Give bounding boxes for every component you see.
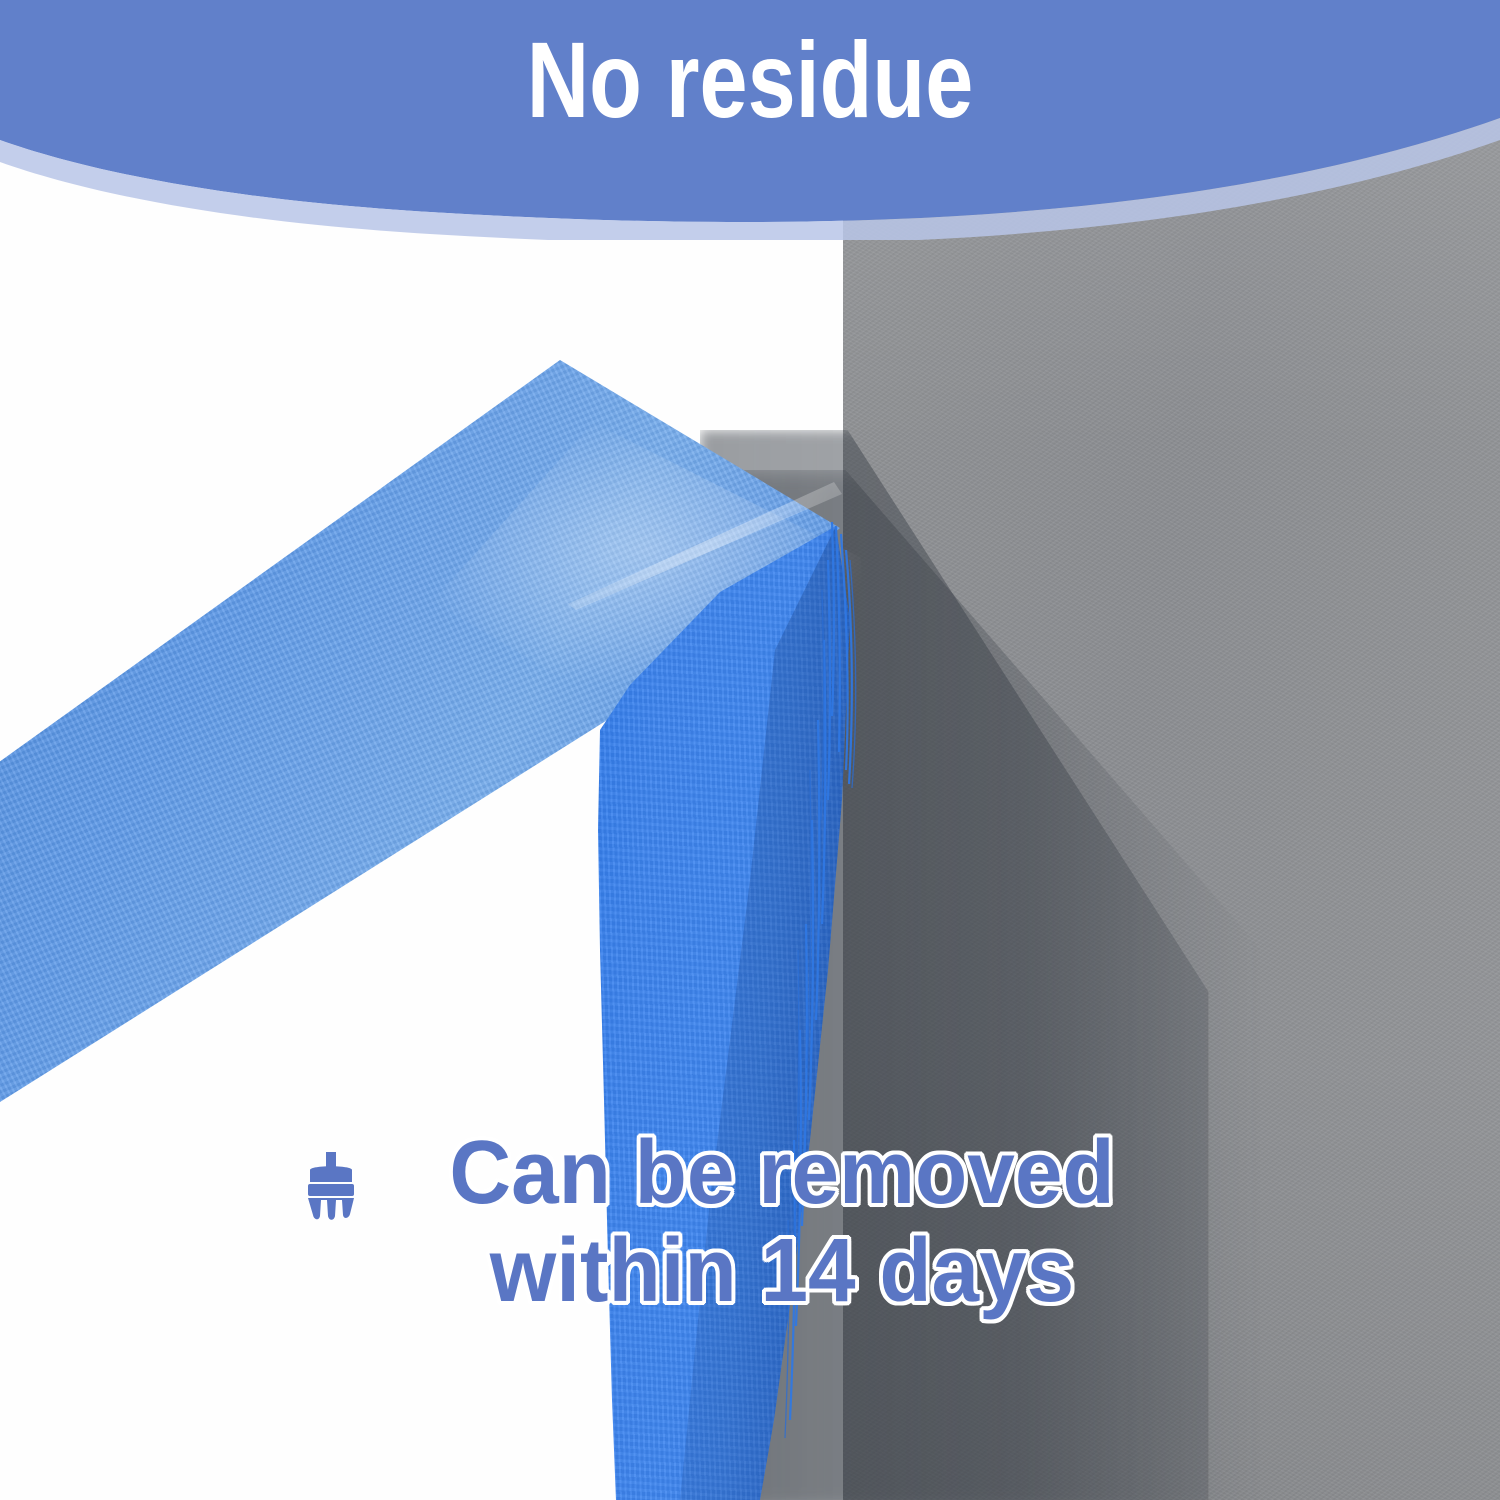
feature-caption: Can be removed within 14 days [300,1128,1180,1318]
product-image: No residue Can be removed within 14 days [0,0,1500,1500]
caption-row: Can be removed within 14 days [300,1128,1180,1318]
caption-line-1: Can be removed [404,1128,1160,1220]
caption-lines: Can be removed within 14 days [384,1128,1180,1318]
paint-brush-icon [300,1152,362,1222]
caption-line-2: within 14 days [404,1226,1160,1318]
